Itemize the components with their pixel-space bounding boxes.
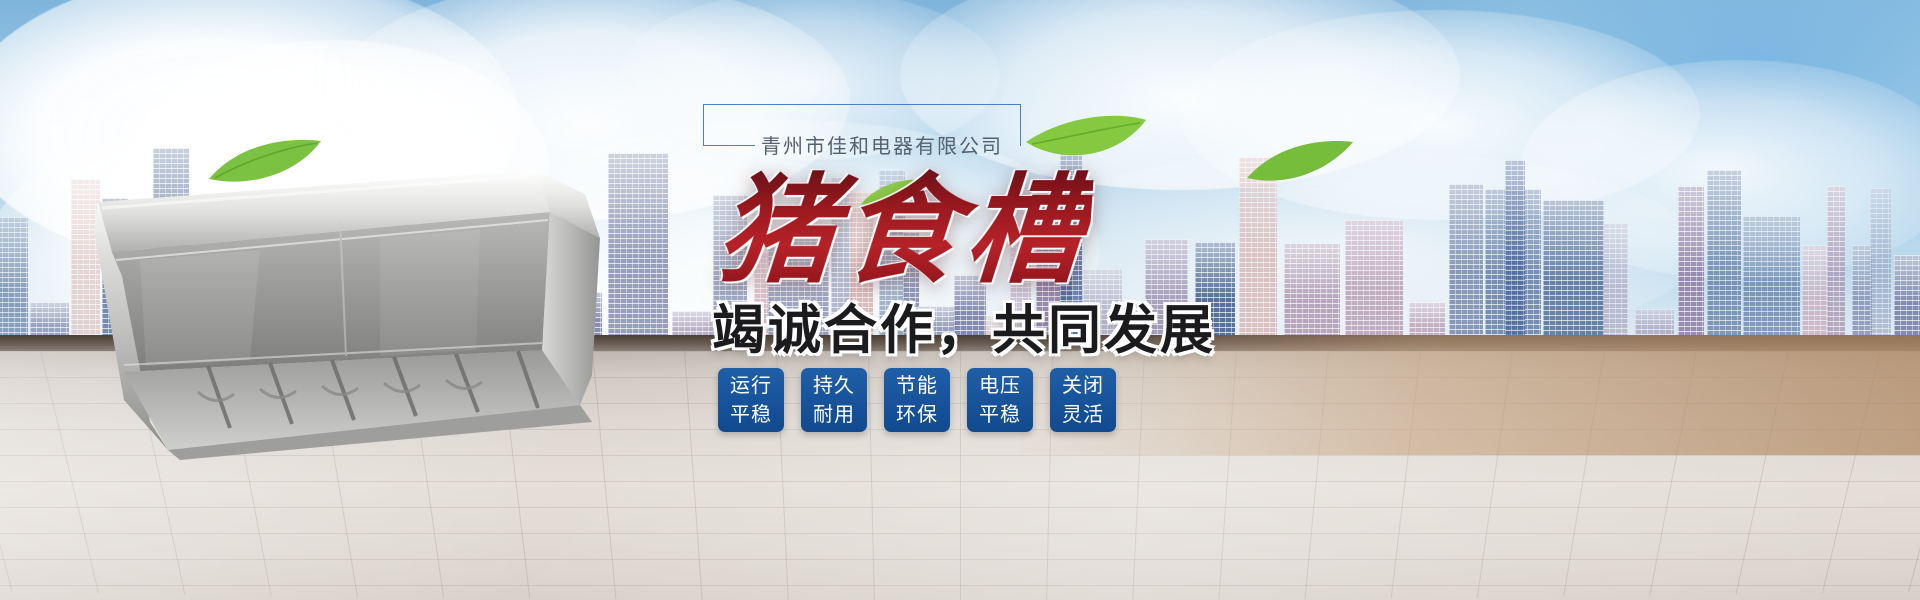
feature-badge-2[interactable]: 持久耐用	[801, 368, 867, 432]
page-subtitle: 竭诚合作，共同发展	[712, 288, 1216, 364]
promotional-banner: 青州市佳和电器有限公司 猪食槽 竭诚合作，共同发展 运行平稳持久耐用节能环保电压…	[0, 0, 1920, 600]
feature-badge-1[interactable]: 运行平稳	[718, 368, 784, 432]
feature-badge-line2: 环保	[896, 400, 938, 429]
page-title: 猪食槽	[714, 168, 1095, 292]
feature-badge-list: 运行平稳持久耐用节能环保电压平稳关闭灵活	[718, 368, 1116, 432]
feature-badge-line1: 持久	[813, 371, 855, 400]
feature-badge-line2: 灵活	[1062, 400, 1104, 429]
banner-content: 青州市佳和电器有限公司 猪食槽 竭诚合作，共同发展 运行平稳持久耐用节能环保电压…	[0, 0, 1920, 600]
company-name-block: 青州市佳和电器有限公司	[703, 104, 1021, 156]
feature-badge-line2: 平稳	[979, 400, 1021, 429]
feature-badge-3[interactable]: 节能环保	[884, 368, 950, 432]
feature-badge-line2: 耐用	[813, 400, 855, 429]
company-name: 青州市佳和电器有限公司	[761, 130, 1003, 159]
feature-badge-line1: 关闭	[1062, 371, 1104, 400]
feature-badge-line1: 节能	[896, 371, 938, 400]
feature-badge-line1: 运行	[730, 371, 772, 400]
feature-badge-line2: 平稳	[730, 400, 772, 429]
feature-badge-line1: 电压	[979, 371, 1021, 400]
feature-badge-4[interactable]: 电压平稳	[967, 368, 1033, 432]
feature-badge-5[interactable]: 关闭灵活	[1050, 368, 1116, 432]
company-name-underline	[703, 145, 755, 146]
